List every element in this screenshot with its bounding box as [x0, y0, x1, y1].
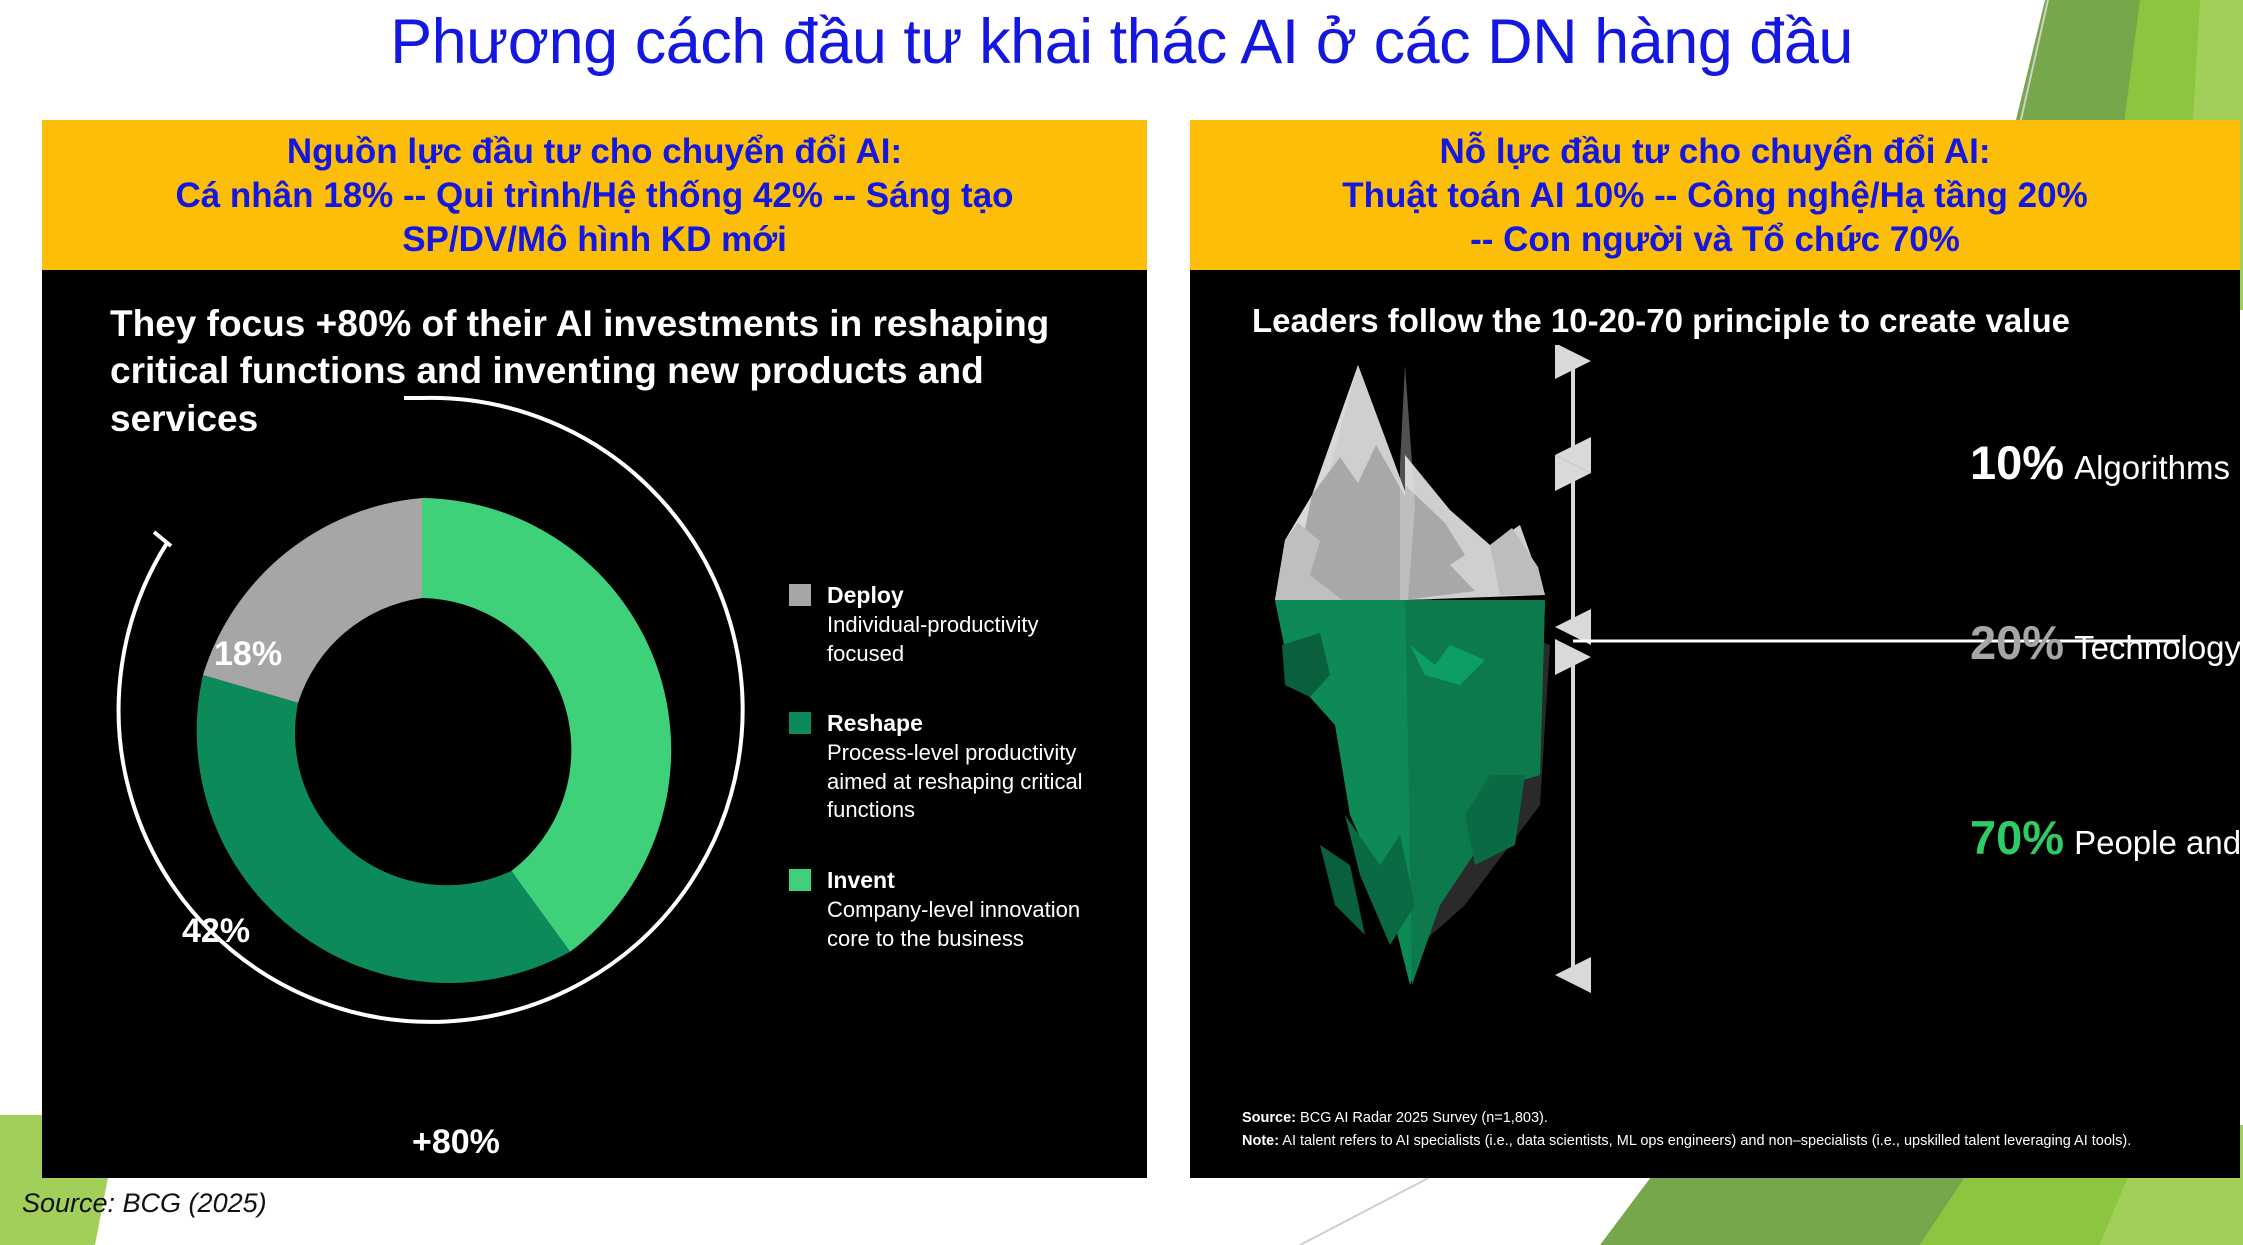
donut-legend: Deploy Individual-productivity focused R…	[789, 580, 1119, 993]
right-header-line-2: Thuật toán AI 10% -- Công nghệ/Hạ tầng 2…	[1198, 174, 2232, 218]
legend-item-reshape: Reshape Process-level productivity aimed…	[789, 708, 1119, 825]
breakdown-row-technology: 20%Technology	[1970, 615, 2240, 670]
donut-value-invent: 40%	[440, 743, 508, 782]
right-header-line-1: Nỗ lực đầu tư cho chuyển đổi AI:	[1198, 130, 2232, 174]
legend-swatch-reshape	[789, 712, 811, 734]
footnote-note: Note: AI talent refers to AI specialists…	[1242, 1130, 2131, 1152]
left-panel-body: They focus +80% of their AI investments …	[42, 270, 1147, 1178]
legend-title-deploy: Deploy	[827, 580, 1119, 611]
footnote-source-text: BCG AI Radar 2025 Survey (n=1,803).	[1296, 1110, 1548, 1126]
footnote-note-text: AI talent refers to AI specialists (i.e.…	[1279, 1133, 2131, 1149]
left-header-line-3: SP/DV/Mô hình KD mới	[50, 218, 1139, 262]
slide-canvas: Phương cách đầu tư khai thác AI ở các DN…	[0, 0, 2243, 1245]
right-header-line-3: -- Con người và Tổ chức 70%	[1198, 218, 2232, 262]
footnote: Source: BCG AI Radar 2025 Survey (n=1,80…	[1242, 1107, 2131, 1152]
breakdown-name-people: People and processes	[2074, 824, 2240, 861]
legend-title-reshape: Reshape	[827, 708, 1119, 739]
breakdown-pct-people: 70%	[1970, 811, 2064, 864]
breakdown-row-people: 70%People and processes	[1970, 810, 2240, 865]
legend-swatch-invent	[789, 869, 811, 891]
left-header-line-1: Nguồn lực đầu tư cho chuyển đổi AI:	[50, 130, 1139, 174]
page-title: Phương cách đầu tư khai thác AI ở các DN…	[0, 6, 2243, 78]
legend-title-invent: Invent	[827, 865, 1119, 896]
right-panel: Nỗ lực đầu tư cho chuyển đổi AI: Thuật t…	[1190, 120, 2240, 1178]
right-chart-heading: Leaders follow the 10-20-70 principle to…	[1252, 300, 2212, 342]
right-panel-body: Leaders follow the 10-20-70 principle to…	[1190, 270, 2240, 1178]
donut-value-reshape: 42%	[182, 912, 250, 951]
breakdown-pct-algorithms: 10%	[1970, 436, 2064, 489]
source-note: Source: BCG (2025)	[22, 1188, 267, 1219]
breakdown-name-technology: Technology	[2074, 629, 2240, 666]
legend-desc-deploy: Individual-productivity focused	[827, 611, 1119, 668]
left-panel: Nguồn lực đầu tư cho chuyển đổi AI: Cá n…	[42, 120, 1147, 1178]
donut-chart: 18% 40% 42% +80%	[72, 360, 772, 1175]
value-breakdown-arrows: 10%Algorithms 20%Technology 70%People an…	[1545, 345, 2205, 1010]
footnote-source-label: Source:	[1242, 1110, 1296, 1126]
legend-desc-reshape: Process-level productivity aimed at resh…	[827, 739, 1119, 825]
legend-item-deploy: Deploy Individual-productivity focused	[789, 580, 1119, 668]
right-panel-header: Nỗ lực đầu tư cho chuyển đổi AI: Thuật t…	[1190, 120, 2240, 270]
legend-swatch-deploy	[789, 584, 811, 606]
breakdown-name-algorithms: Algorithms	[2074, 449, 2230, 486]
donut-value-deploy: 18%	[214, 635, 282, 674]
footnote-note-label: Note:	[1242, 1133, 1279, 1149]
breakdown-row-algorithms: 10%Algorithms	[1970, 435, 2230, 490]
legend-desc-invent: Company-level innovation core to the bus…	[827, 896, 1119, 953]
breakdown-pct-technology: 20%	[1970, 616, 2064, 669]
left-panel-header: Nguồn lực đầu tư cho chuyển đổi AI: Cá n…	[42, 120, 1147, 270]
left-header-line-2: Cá nhân 18% -- Qui trình/Hệ thống 42% --…	[50, 174, 1139, 218]
legend-item-invent: Invent Company-level innovation core to …	[789, 865, 1119, 953]
footnote-source: Source: BCG AI Radar 2025 Survey (n=1,80…	[1242, 1107, 2131, 1129]
iceberg-icon	[1250, 345, 1560, 1000]
donut-bracket-label: +80%	[412, 1123, 500, 1162]
